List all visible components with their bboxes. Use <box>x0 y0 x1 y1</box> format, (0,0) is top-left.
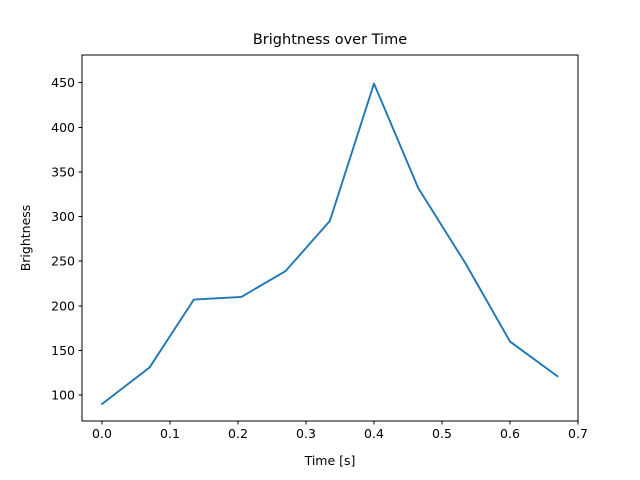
x-tick-label: 0.5 <box>432 426 452 441</box>
y-tick-label: 100 <box>51 388 75 403</box>
x-tick-label: 0.6 <box>500 426 520 441</box>
y-tick-label: 450 <box>51 75 75 90</box>
figure-background <box>0 0 640 480</box>
y-tick-label: 150 <box>51 343 75 358</box>
y-tick-label: 350 <box>51 164 75 179</box>
chart-title: Brightness over Time <box>253 32 407 48</box>
x-tick-label: 0.3 <box>296 426 316 441</box>
y-tick-label: 300 <box>51 209 75 224</box>
x-axis-label: Time [s] <box>304 453 356 468</box>
x-tick-label: 0.4 <box>364 426 384 441</box>
y-axis-label: Brightness <box>18 205 33 272</box>
y-tick-label: 200 <box>51 298 75 313</box>
figure-canvas: 0.00.10.20.30.40.50.60.7 100150200250300… <box>0 0 640 480</box>
line-chart: 0.00.10.20.30.40.50.60.7 100150200250300… <box>0 0 640 480</box>
x-tick-label: 0.1 <box>160 426 180 441</box>
x-tick-label: 0.7 <box>568 426 588 441</box>
x-tick-label: 0.2 <box>228 426 248 441</box>
y-tick-label: 400 <box>51 120 75 135</box>
y-tick-label: 250 <box>51 254 75 269</box>
x-tick-label: 0.0 <box>92 426 112 441</box>
